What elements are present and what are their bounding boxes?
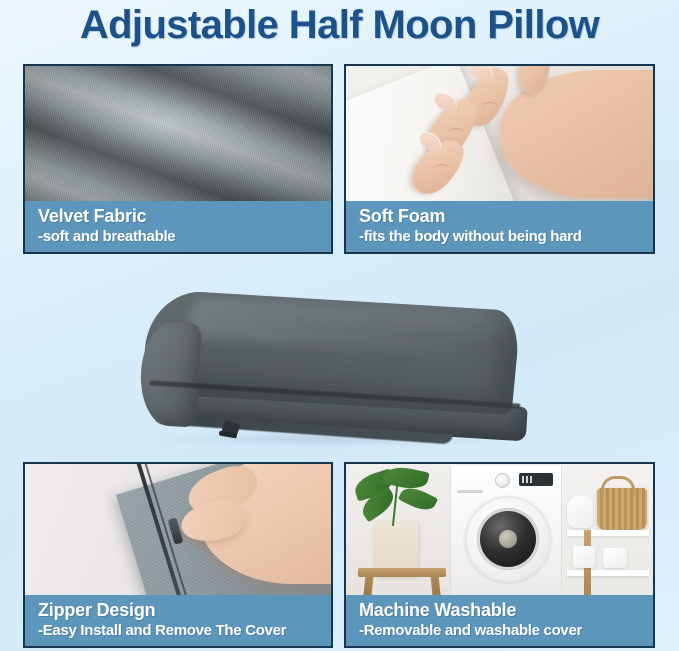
- storage-box: [573, 546, 595, 568]
- caption-velvet-fabric: Velvet Fabric -soft and breathable: [25, 201, 331, 252]
- product-infographic: Adjustable Half Moon Pillow Velvet Fabri…: [0, 0, 679, 651]
- pillow-sheen-highlight: [186, 297, 469, 354]
- caption-title: Soft Foam: [359, 205, 653, 227]
- washing-machine: [450, 466, 562, 606]
- caption-title: Zipper Design: [38, 599, 331, 621]
- storage-box: [603, 548, 627, 568]
- caption-subtitle: -Removable and washable cover: [359, 621, 653, 640]
- caption-zipper-design: Zipper Design -Easy Install and Remove T…: [25, 595, 331, 646]
- velvet-vignette: [25, 66, 331, 208]
- velvet-fabric-photo: [25, 66, 331, 208]
- caption-title: Velvet Fabric: [38, 205, 331, 227]
- washer-door: [465, 496, 551, 582]
- hero-product-image: [135, 300, 555, 465]
- caption-subtitle: -fits the body without being hard: [359, 227, 653, 246]
- washer-display: [519, 473, 553, 486]
- panel-velvet-fabric: Velvet Fabric -soft and breathable: [23, 64, 333, 254]
- knuckle-crease: [448, 128, 464, 139]
- page-title: Adjustable Half Moon Pillow: [0, 0, 679, 52]
- knuckle-crease: [482, 102, 498, 113]
- washer-knob-icon: [495, 473, 510, 488]
- soft-foam-photo: [346, 66, 653, 208]
- washer-drawer-handle: [457, 490, 483, 493]
- knuckle-crease: [434, 164, 450, 175]
- washer-drum-center: [499, 530, 517, 548]
- shelf-lower: [567, 570, 649, 576]
- basket-handle: [601, 476, 635, 495]
- caption-subtitle: -soft and breathable: [38, 227, 331, 246]
- caption-subtitle: -Easy Install and Remove The Cover: [38, 621, 331, 640]
- caption-machine-washable: Machine Washable -Removable and washable…: [346, 595, 653, 646]
- panel-soft-foam: Soft Foam -fits the body without being h…: [344, 64, 655, 254]
- washer-door-glass: [477, 508, 539, 570]
- zipper-design-photo: [25, 464, 331, 606]
- hand-pressing-foam: [404, 66, 653, 208]
- washer-control-panel: [457, 471, 555, 487]
- panel-zipper-design: Zipper Design -Easy Install and Remove T…: [23, 462, 333, 648]
- panel-machine-washable: Machine Washable -Removable and washable…: [344, 462, 655, 648]
- hand-pulling-zipper: [175, 464, 331, 606]
- machine-washable-photo: [346, 464, 653, 606]
- shelf-upper: [567, 530, 649, 536]
- caption-soft-foam: Soft Foam -fits the body without being h…: [346, 201, 653, 252]
- caption-title: Machine Washable: [359, 599, 653, 621]
- folded-towel: [567, 496, 593, 528]
